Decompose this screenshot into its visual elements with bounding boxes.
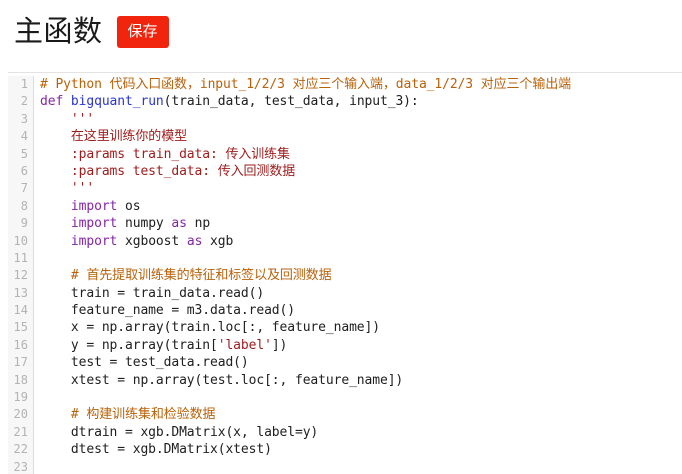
code-line[interactable]: import xgboost as xgb bbox=[40, 233, 682, 250]
code-token-plain: xtest = np.array(test.loc[:, feature_nam… bbox=[40, 373, 403, 388]
code-token-plain: dtrain = xgb.DMatrix(x, label=y) bbox=[40, 425, 318, 440]
code-token-func: bigquant_run bbox=[71, 94, 164, 109]
code-token-doc: ''' bbox=[40, 181, 94, 196]
code-line[interactable]: import numpy as np bbox=[40, 215, 682, 232]
code-token-plain: x = np.array(train.loc[:, feature_name]) bbox=[40, 320, 380, 335]
line-number: 14 bbox=[8, 302, 28, 319]
code-line[interactable]: y = np.array(train['label']) bbox=[40, 337, 682, 354]
code-token-plain: train = train_data.read() bbox=[40, 286, 264, 301]
code-line[interactable]: def bigquant_run(train_data, test_data, … bbox=[40, 93, 682, 110]
line-number: 12 bbox=[8, 267, 28, 284]
code-token-plain: xgb bbox=[202, 234, 233, 249]
code-token-doc: :params test_data: 传入回测数据 bbox=[40, 164, 295, 179]
line-number: 16 bbox=[8, 337, 28, 354]
code-editor-panel: 主函数 保存 123456789101112131415161718192021… bbox=[0, 0, 682, 474]
code-token-plain bbox=[40, 407, 71, 422]
code-token-plain bbox=[40, 199, 71, 214]
code-line[interactable]: feature_name = m3.data.read() bbox=[40, 302, 682, 319]
code-token-plain: os bbox=[117, 199, 140, 214]
code-token-comment: # Python 代码入口函数，input_1/2/3 对应三个输入端，data… bbox=[40, 77, 571, 92]
code-token-plain: dtest = xgb.DMatrix(xtest) bbox=[40, 442, 272, 457]
code-token-keyword: import bbox=[71, 234, 117, 249]
code-token-plain: ]) bbox=[272, 338, 287, 353]
code-token-plain bbox=[40, 112, 71, 127]
line-number: 6 bbox=[8, 163, 28, 180]
line-number: 7 bbox=[8, 180, 28, 197]
save-button[interactable]: 保存 bbox=[117, 16, 169, 48]
code-token-plain: y = np.array(train[ bbox=[40, 338, 218, 353]
code-line[interactable]: ''' bbox=[40, 180, 682, 197]
code-line[interactable] bbox=[40, 459, 682, 474]
code-token-doc: 在这里训练你的模型 bbox=[40, 129, 187, 144]
code-token-keyword: as bbox=[171, 216, 186, 231]
code-token-keyword: as bbox=[187, 234, 202, 249]
code-token-plain: test = test_data.read() bbox=[40, 355, 249, 370]
code-editor[interactable]: 1234567891011121314151617181920212223 # … bbox=[8, 72, 682, 474]
code-token-comment: # 首先提取训练集的特征和标签以及回测数据 bbox=[71, 268, 332, 283]
code-line[interactable]: # 构建训练集和检验数据 bbox=[40, 406, 682, 423]
code-line[interactable]: test = test_data.read() bbox=[40, 354, 682, 371]
line-number: 15 bbox=[8, 319, 28, 336]
line-number: 3 bbox=[8, 111, 28, 128]
code-line[interactable]: xtest = np.array(test.loc[:, feature_nam… bbox=[40, 372, 682, 389]
code-token-plain: xgboost bbox=[117, 234, 187, 249]
line-number: 9 bbox=[8, 215, 28, 232]
code-token-plain: numpy bbox=[117, 216, 171, 231]
line-number: 20 bbox=[8, 406, 28, 423]
code-token-doc: ''' bbox=[71, 112, 94, 127]
code-token-comment: # 构建训练集和检验数据 bbox=[71, 407, 215, 422]
code-line[interactable]: train = train_data.read() bbox=[40, 285, 682, 302]
code-line[interactable]: import os bbox=[40, 198, 682, 215]
code-token-keyword: import bbox=[71, 216, 117, 231]
code-line[interactable]: dtrain = xgb.DMatrix(x, label=y) bbox=[40, 424, 682, 441]
line-number: 19 bbox=[8, 389, 28, 406]
code-line[interactable]: # Python 代码入口函数，input_1/2/3 对应三个输入端，data… bbox=[40, 76, 682, 93]
code-token-plain: (train_data, test_data, input_3): bbox=[164, 94, 419, 109]
line-number: 11 bbox=[8, 250, 28, 267]
code-token-keyword: def bbox=[40, 94, 63, 109]
code-token-plain bbox=[63, 94, 71, 109]
code-line[interactable]: :params train_data: 传入训练集 bbox=[40, 146, 682, 163]
code-token-string: 'label' bbox=[218, 338, 272, 353]
code-line[interactable]: :params test_data: 传入回测数据 bbox=[40, 163, 682, 180]
code-line[interactable] bbox=[40, 250, 682, 267]
panel-header: 主函数 保存 bbox=[0, 0, 682, 52]
line-number: 10 bbox=[8, 233, 28, 250]
line-number: 5 bbox=[8, 146, 28, 163]
code-content[interactable]: # Python 代码入口函数，input_1/2/3 对应三个输入端，data… bbox=[34, 76, 682, 474]
code-token-plain bbox=[40, 234, 71, 249]
code-token-plain bbox=[40, 268, 71, 283]
code-token-plain: np bbox=[187, 216, 210, 231]
line-number: 17 bbox=[8, 354, 28, 371]
code-line[interactable]: dtest = xgb.DMatrix(xtest) bbox=[40, 441, 682, 458]
line-number: 1 bbox=[8, 76, 28, 93]
line-number: 23 bbox=[8, 459, 28, 474]
line-number: 18 bbox=[8, 372, 28, 389]
code-line[interactable]: 在这里训练你的模型 bbox=[40, 128, 682, 145]
page-title: 主函数 bbox=[14, 14, 103, 48]
line-number-gutter: 1234567891011121314151617181920212223 bbox=[8, 76, 34, 474]
code-token-keyword: import bbox=[71, 199, 117, 214]
line-number: 8 bbox=[8, 198, 28, 215]
code-line[interactable] bbox=[40, 389, 682, 406]
line-number: 4 bbox=[8, 128, 28, 145]
code-line[interactable]: # 首先提取训练集的特征和标签以及回测数据 bbox=[40, 267, 682, 284]
code-token-plain bbox=[40, 216, 71, 231]
code-line[interactable]: ''' bbox=[40, 111, 682, 128]
code-token-plain: feature_name = m3.data.read() bbox=[40, 303, 295, 318]
line-number: 13 bbox=[8, 285, 28, 302]
line-number: 22 bbox=[8, 441, 28, 458]
line-number: 2 bbox=[8, 93, 28, 110]
line-number: 21 bbox=[8, 424, 28, 441]
code-line[interactable]: x = np.array(train.loc[:, feature_name]) bbox=[40, 319, 682, 336]
code-token-doc: :params train_data: 传入训练集 bbox=[40, 147, 290, 162]
